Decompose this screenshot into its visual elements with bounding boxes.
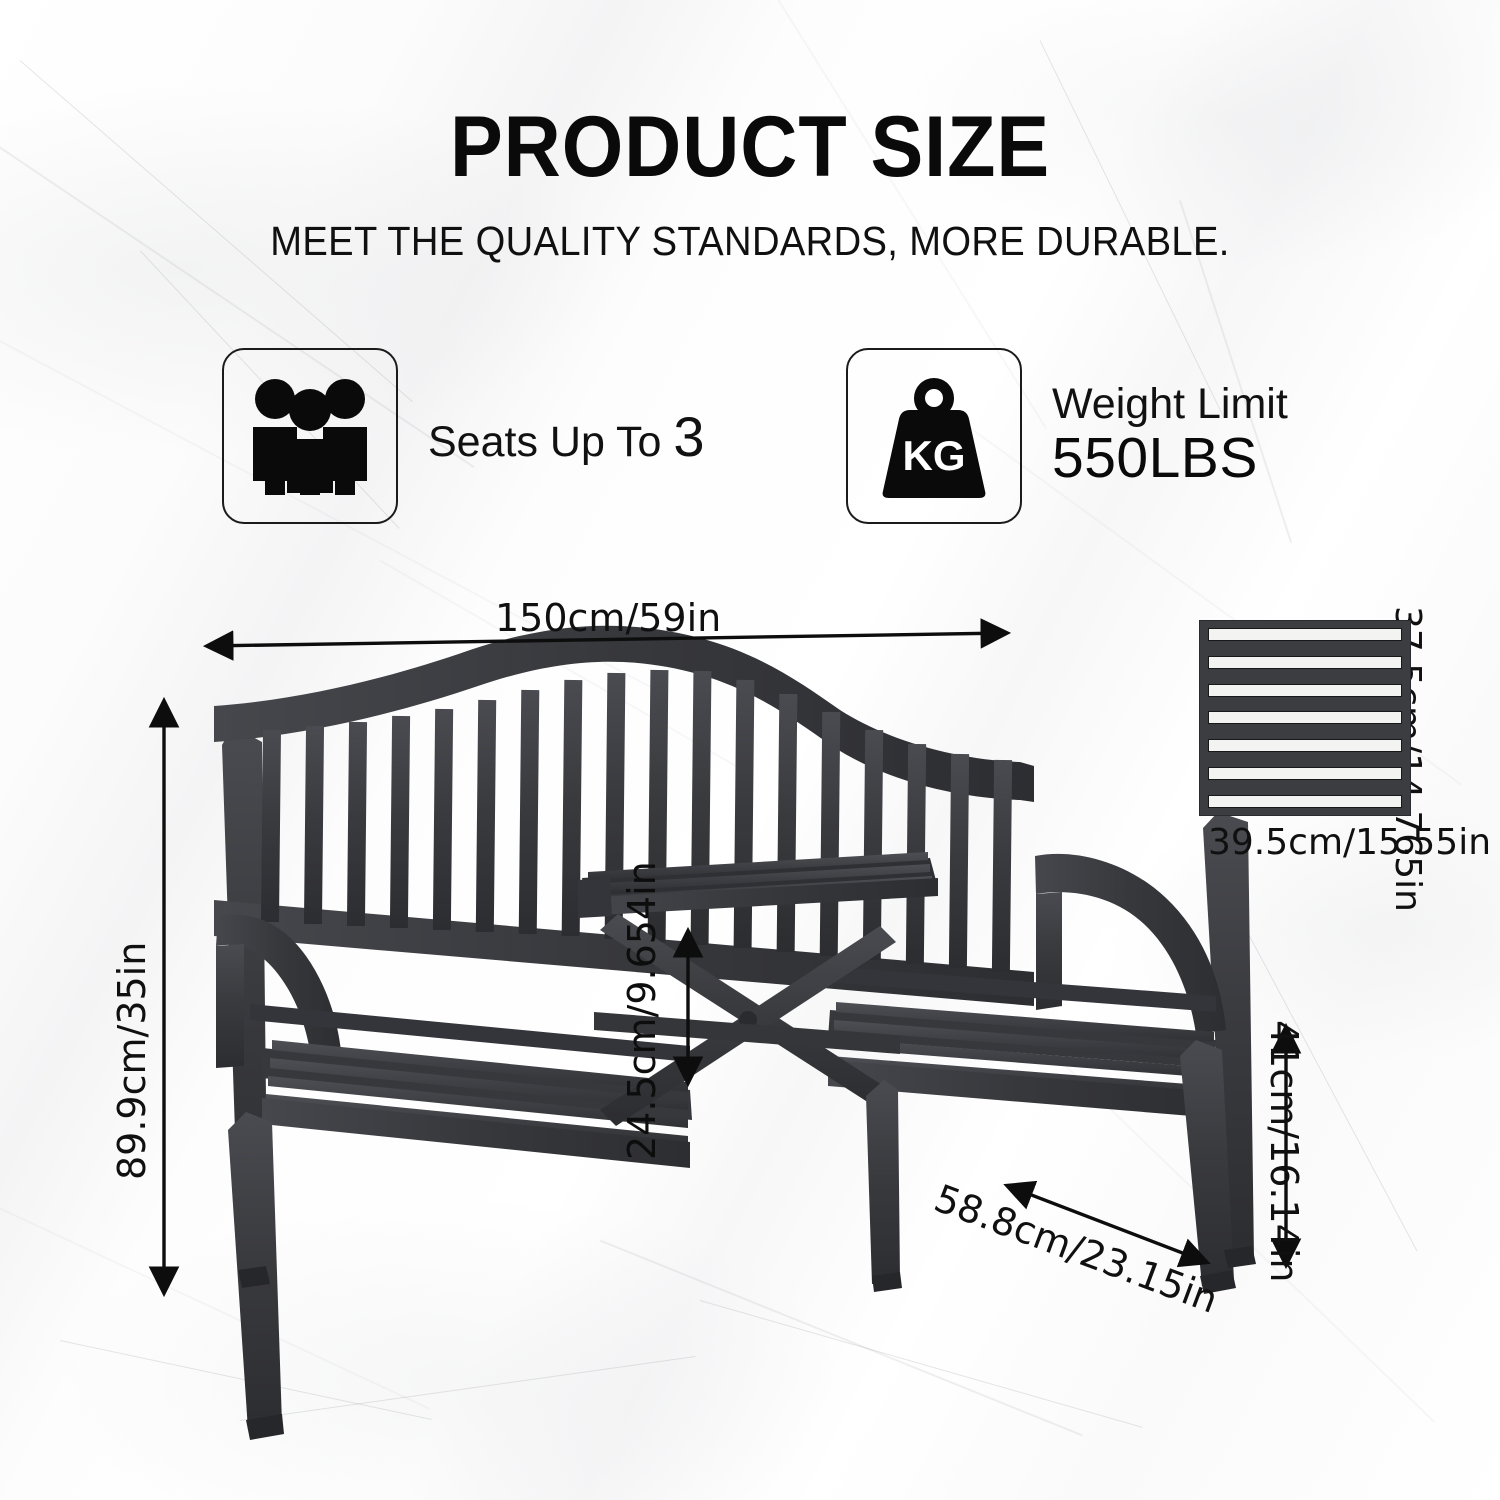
- product-size-infographic: PRODUCT SIZE MEET THE QUALITY STANDARDS,…: [0, 0, 1500, 1500]
- inset-slat-gap: [1208, 767, 1402, 780]
- label-table-height: 24.5cm/9.654in: [620, 861, 664, 1160]
- inset-slat-gap: [1208, 795, 1402, 808]
- label-overall-width: 150cm/59in: [495, 596, 721, 640]
- label-table-height-text: 24.5cm/9.654in: [620, 861, 664, 1160]
- tabletop-slat-detail-inset: [1199, 620, 1411, 816]
- inset-slat-gap: [1208, 684, 1402, 697]
- label-overall-height: 89.9cm/35in: [110, 942, 154, 1180]
- inset-slat-gap: [1208, 711, 1402, 724]
- inset-slat-gap: [1208, 739, 1402, 752]
- inset-slat-gap: [1208, 656, 1402, 669]
- label-seat-height: 41cm/16.14in: [1262, 1020, 1306, 1283]
- label-tabletop-width: 39.5cm/15.55in: [1208, 822, 1491, 863]
- inset-slat-gap: [1208, 628, 1402, 641]
